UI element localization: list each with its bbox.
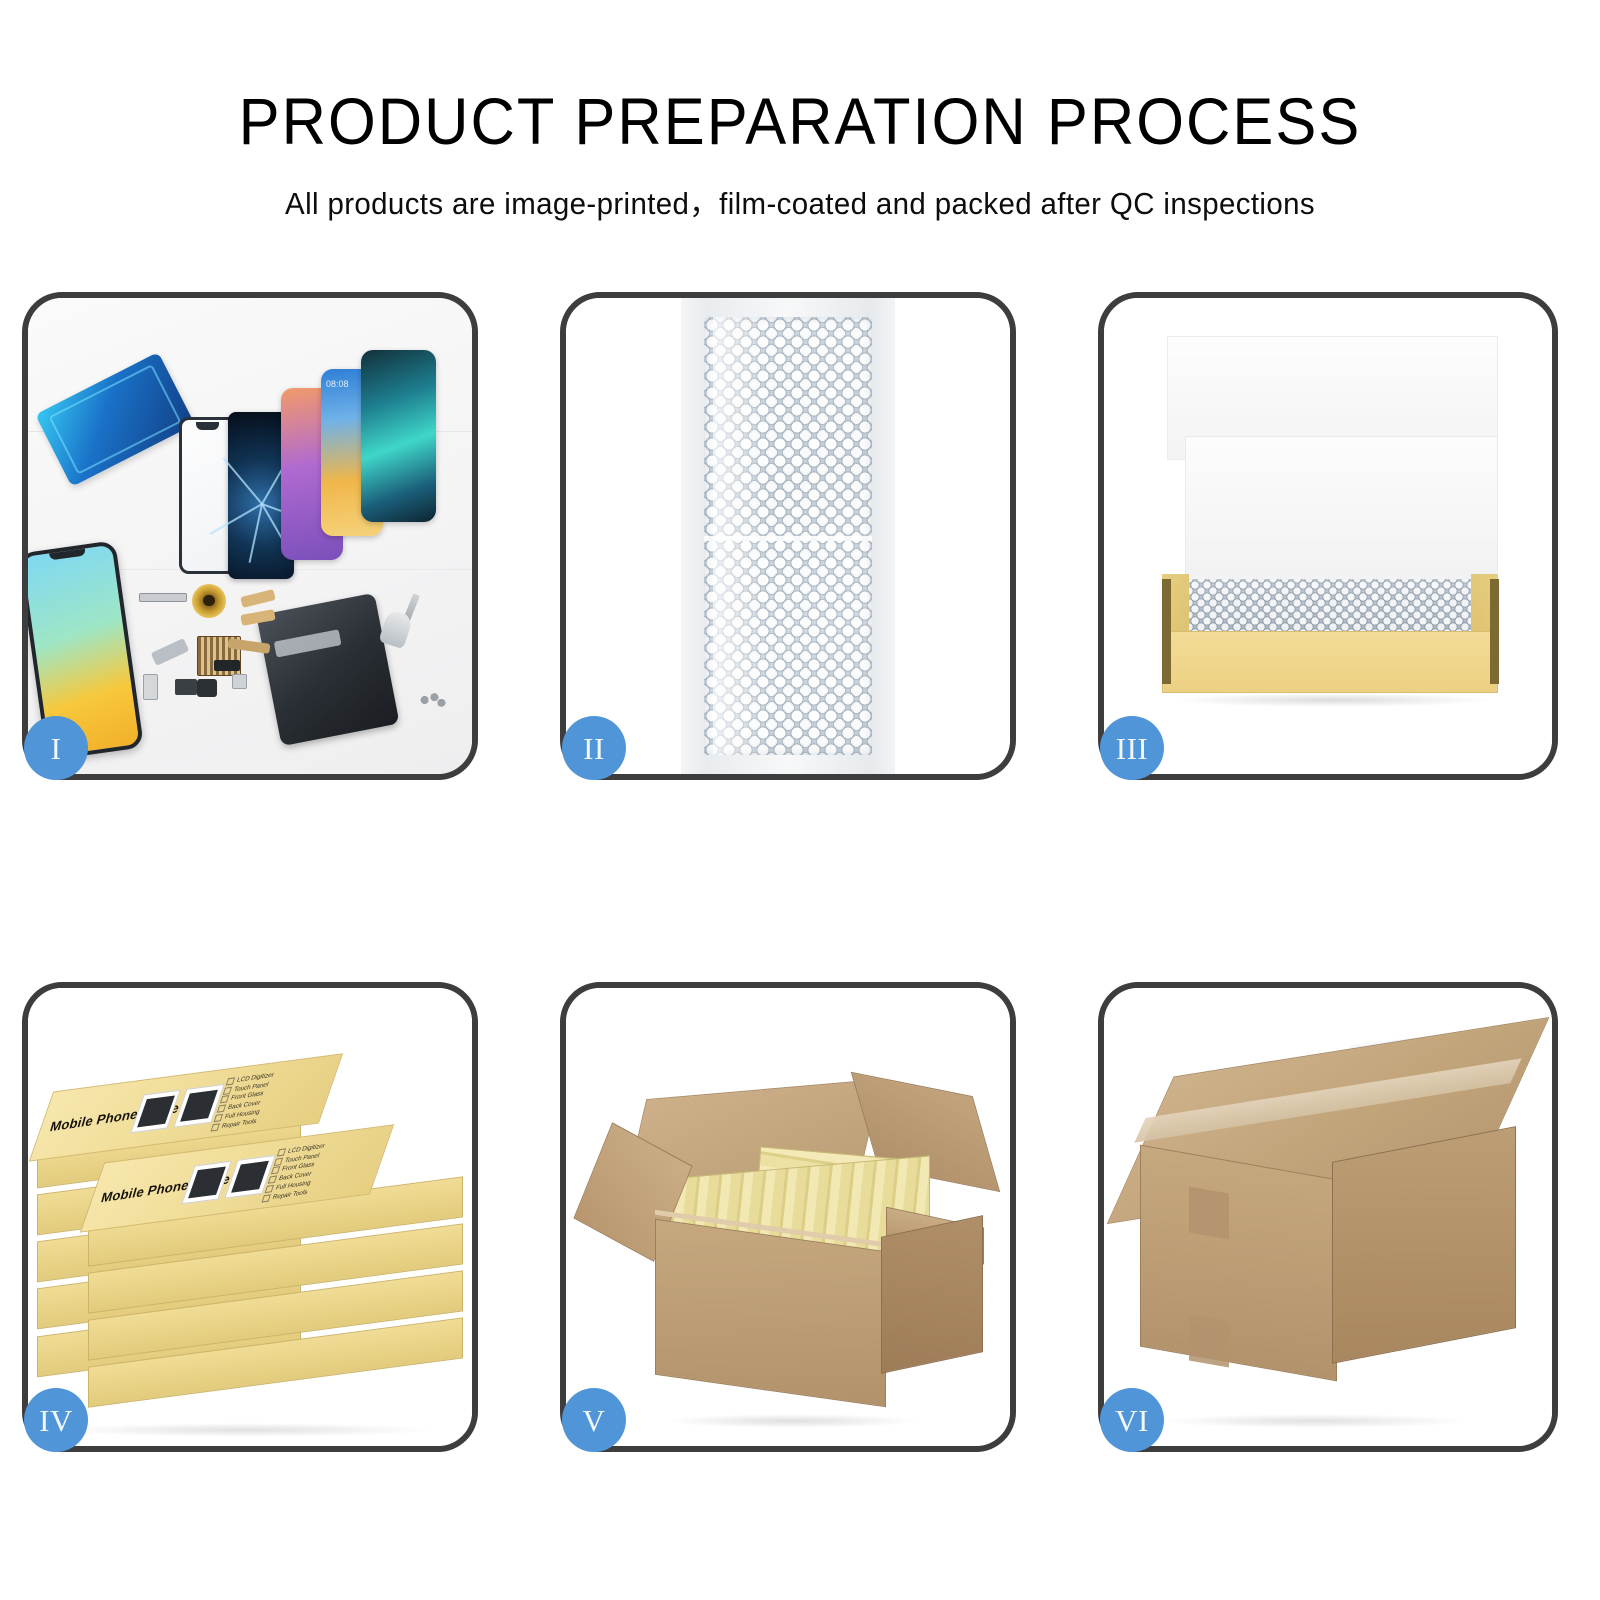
carton-shadow <box>664 1414 922 1428</box>
retail-box-checklist: LCD Digitizer Touch Panel Front Glass Ba… <box>211 1064 327 1132</box>
sealed-shipping-carton-image <box>1104 988 1552 1446</box>
stack-shadow <box>55 1423 437 1437</box>
speaker-mesh-part <box>139 593 187 602</box>
flex-cable-part <box>240 589 276 608</box>
camera-module-part <box>197 679 217 697</box>
carton-body-front <box>655 1219 886 1407</box>
process-step-panel-1: 08:08 I <box>22 292 478 780</box>
wireless-charging-coil-part <box>192 584 226 618</box>
open-retail-box-image <box>1104 298 1552 774</box>
page-subtitle: All products are image-printed，film-coat… <box>40 188 1560 219</box>
box-inner-panel <box>1185 436 1499 593</box>
crack-line <box>223 457 263 504</box>
stacked-retail-boxes-image: Mobile Phone Spare Parts LCD Digitizer T… <box>28 988 472 1446</box>
process-step-panel-3: III <box>1098 292 1558 780</box>
step-badge-5: V <box>562 1388 626 1452</box>
process-step-panel-2: II <box>560 292 1016 780</box>
box-tray-front-wall <box>1162 631 1498 693</box>
phone-clock-label: 08:08 <box>326 379 349 389</box>
retail-box-checklist: LCD Digitizer Touch Panel Front Glass Ba… <box>262 1135 378 1203</box>
carton-tab-upper <box>1189 1186 1229 1239</box>
page-title: PRODUCT PREPARATION PROCESS <box>56 88 1544 154</box>
process-steps-grid: 08:08 I <box>22 292 1562 1454</box>
back-housing-part <box>256 592 399 746</box>
crack-line <box>249 504 263 563</box>
battery-connector-part <box>214 660 240 671</box>
bubble-wrapped-item-in-box <box>1189 579 1494 636</box>
carton-shadow <box>1158 1414 1472 1428</box>
step-badge-4: IV <box>24 1388 88 1452</box>
infographic-page: PRODUCT PREPARATION PROCESS All products… <box>0 0 1600 1600</box>
box-tray-edge-left <box>1162 579 1171 684</box>
vibrator-module-part <box>232 674 247 689</box>
carton-side-face <box>1332 1126 1516 1363</box>
sim-tray-part <box>143 674 158 700</box>
bubble-wrapped-part-image <box>566 298 1010 774</box>
step-badge-3: III <box>1100 716 1164 780</box>
open-shipping-carton-image <box>566 988 1010 1446</box>
box-tray-edge-right <box>1490 579 1499 684</box>
step-badge-1: I <box>24 716 88 780</box>
blue-backplate-part <box>35 352 194 487</box>
screws-group <box>419 693 447 707</box>
phone-parts-collage-image: 08:08 <box>28 298 472 774</box>
carton-front-face <box>1140 1145 1337 1381</box>
process-step-panel-6: VI <box>1098 982 1558 1452</box>
box-shadow <box>1171 693 1494 707</box>
box-stack: Mobile Phone Spare Parts LCD Digitizer T… <box>37 1043 463 1437</box>
wrap-seam <box>704 536 873 541</box>
step-badge-6: VI <box>1100 1388 1164 1452</box>
header: PRODUCT PREPARATION PROCESS All products… <box>0 0 1600 219</box>
flex-cable-part <box>151 639 190 667</box>
camera-module-part <box>175 679 197 695</box>
carton-tab-lower <box>1189 1314 1229 1367</box>
teal-phone-display <box>361 350 436 521</box>
carton-body-side <box>881 1215 983 1374</box>
step-badge-2: II <box>562 716 626 780</box>
process-step-panel-4: Mobile Phone Spare Parts LCD Digitizer T… <box>22 982 478 1452</box>
process-step-panel-5: V <box>560 982 1016 1452</box>
